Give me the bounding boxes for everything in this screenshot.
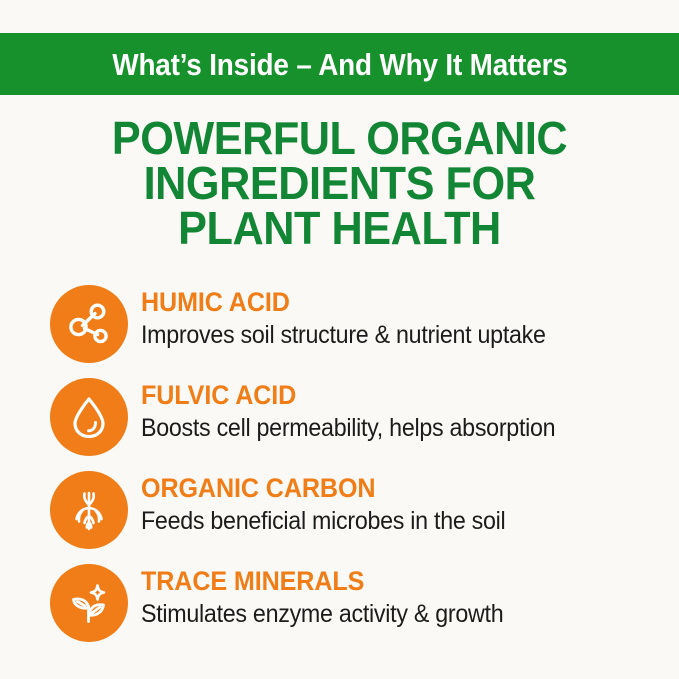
list-item-text: ORGANIC CARBON Feeds beneficial microbes… [141,473,661,537]
sprout-sparkle-icon [50,564,128,642]
molecule-icon [50,285,128,363]
header-banner: What’s Inside – And Why It Matters [0,33,679,95]
list-item-text: HUMIC ACID Improves soil structure & nut… [141,287,661,351]
ingredient-list: HUMIC ACID Improves soil structure & nut… [0,283,679,655]
ingredient-description: Boosts cell permeability, helps absorpti… [141,412,625,444]
page-title-line-3: PLANT HEALTH [20,206,658,251]
list-item: HUMIC ACID Improves soil structure & nut… [0,283,679,376]
page-title-line-1: POWERFUL ORGANIC [20,116,658,161]
ingredient-description: Feeds beneficial microbes in the soil [141,505,625,537]
list-item: ORGANIC CARBON Feeds beneficial microbes… [0,469,679,562]
ingredient-name: TRACE MINERALS [141,566,625,597]
ingredient-description: Stimulates enzyme activity & growth [141,598,625,630]
plant-roots-icon [50,471,128,549]
water-drop-icon [50,378,128,456]
list-item-text: FULVIC ACID Boosts cell permeability, he… [141,380,661,444]
list-item-text: TRACE MINERALS Stimulates enzyme activit… [141,566,661,630]
list-item: TRACE MINERALS Stimulates enzyme activit… [0,562,679,655]
ingredient-name: HUMIC ACID [141,287,625,318]
page-title: POWERFUL ORGANIC INGREDIENTS FOR PLANT H… [0,116,679,251]
infographic-page: What’s Inside – And Why It Matters POWER… [0,0,679,679]
ingredient-description: Improves soil structure & nutrient uptak… [141,319,625,351]
list-item: FULVIC ACID Boosts cell permeability, he… [0,376,679,469]
ingredient-name: ORGANIC CARBON [141,473,625,504]
page-title-line-2: INGREDIENTS FOR [20,161,658,206]
ingredient-name: FULVIC ACID [141,380,625,411]
banner-title: What’s Inside – And Why It Matters [112,49,567,80]
